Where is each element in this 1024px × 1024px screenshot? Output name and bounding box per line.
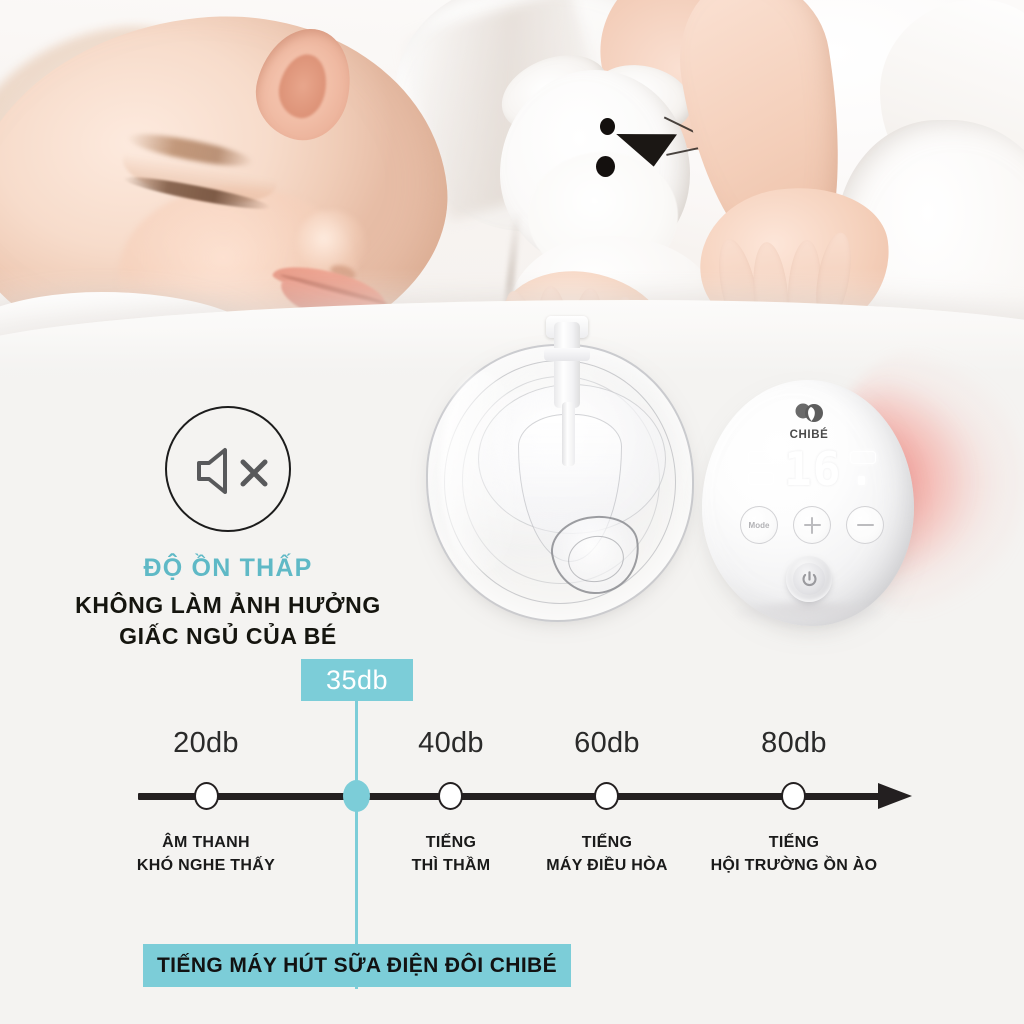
speaker-glyph [195, 447, 235, 495]
battery-icon [850, 451, 876, 464]
chibe-mark-icon [794, 402, 824, 426]
scale-node-35db-active [343, 780, 370, 812]
scale-label-20db: 20db [126, 727, 286, 760]
feature-subline-1: KHÔNG LÀM ẢNH HƯỞNG [56, 590, 400, 621]
minus-icon [857, 517, 874, 534]
scale-label-40db: 40db [371, 727, 531, 760]
scale-caption-80db: TIẾNG HỘI TRƯỜNG ỒN ÀO [679, 832, 909, 877]
scale-node-40db [438, 782, 463, 810]
connector-neck [554, 322, 580, 408]
pump-control-row: Mode [740, 506, 884, 546]
increase-button[interactable] [793, 506, 831, 544]
scale-node-60db [594, 782, 619, 810]
banner-text: TIẾNG MÁY HÚT SỮA ĐIỆN ĐÔI CHIBÉ [157, 954, 557, 978]
mute-speaker-icon [165, 406, 291, 532]
scale-label-60db: 60db [527, 727, 687, 760]
mode-button[interactable]: Mode [740, 506, 778, 544]
connector-ring [544, 348, 590, 361]
power-button-inner [793, 563, 825, 595]
scale-node-20db [194, 782, 219, 810]
plus-icon [804, 517, 821, 534]
scale-axis-arrow-icon [878, 783, 912, 809]
product-noise-banner: TIẾNG MÁY HÚT SỮA ĐIỆN ĐÔI CHIBÉ [143, 944, 571, 987]
brand-name: CHIBÉ [776, 429, 842, 441]
display-dot-indicator [858, 476, 865, 485]
caption-line: HỘI TRƯỜNG ỒN ÀO [679, 855, 909, 878]
shield-highlight [440, 372, 524, 572]
power-icon [800, 570, 819, 589]
mode-button-label: Mode [749, 521, 770, 530]
close-x-icon [239, 458, 269, 488]
highlight-badge-35db: 35db [301, 659, 413, 701]
infographic-page: ĐỘ ỒN THẤP KHÔNG LÀM ẢNH HƯỞNG GIẤC NGỦ … [0, 0, 1024, 1024]
product-image-breast-pump: CHIBÉ 16 Mode [418, 318, 978, 658]
power-button[interactable] [786, 556, 832, 602]
expression-mode-icon [748, 472, 774, 485]
scale-caption-20db: ÂM THANH KHÓ NGHE THẤY [91, 832, 321, 877]
scale-node-80db [781, 782, 806, 810]
teddy-eye-lower [596, 156, 615, 177]
caption-line: KHÓ NGHE THẤY [91, 855, 321, 878]
decrease-button[interactable] [846, 506, 884, 544]
led-display: 16 [748, 446, 876, 494]
pump-base-shadow [736, 602, 882, 624]
caption-line: ÂM THANH [91, 832, 321, 855]
low-noise-feature-block: ĐỘ ỒN THẤP KHÔNG LÀM ẢNH HƯỞNG GIẤC NGỦ … [56, 406, 400, 651]
feature-headline: ĐỘ ỒN THẤP [56, 554, 400, 583]
brand-logo: CHIBÉ [776, 402, 842, 441]
teddy-eye-upper [600, 118, 615, 135]
display-level-value: 16 [784, 442, 841, 496]
massage-mode-icon [748, 451, 774, 464]
scale-label-80db: 80db [714, 727, 874, 760]
scale-axis-line [138, 793, 890, 800]
connector-tube [562, 402, 575, 466]
caption-line: TIẾNG [679, 832, 909, 855]
feature-subline-2: GIẤC NGỦ CỦA BÉ [56, 621, 400, 652]
